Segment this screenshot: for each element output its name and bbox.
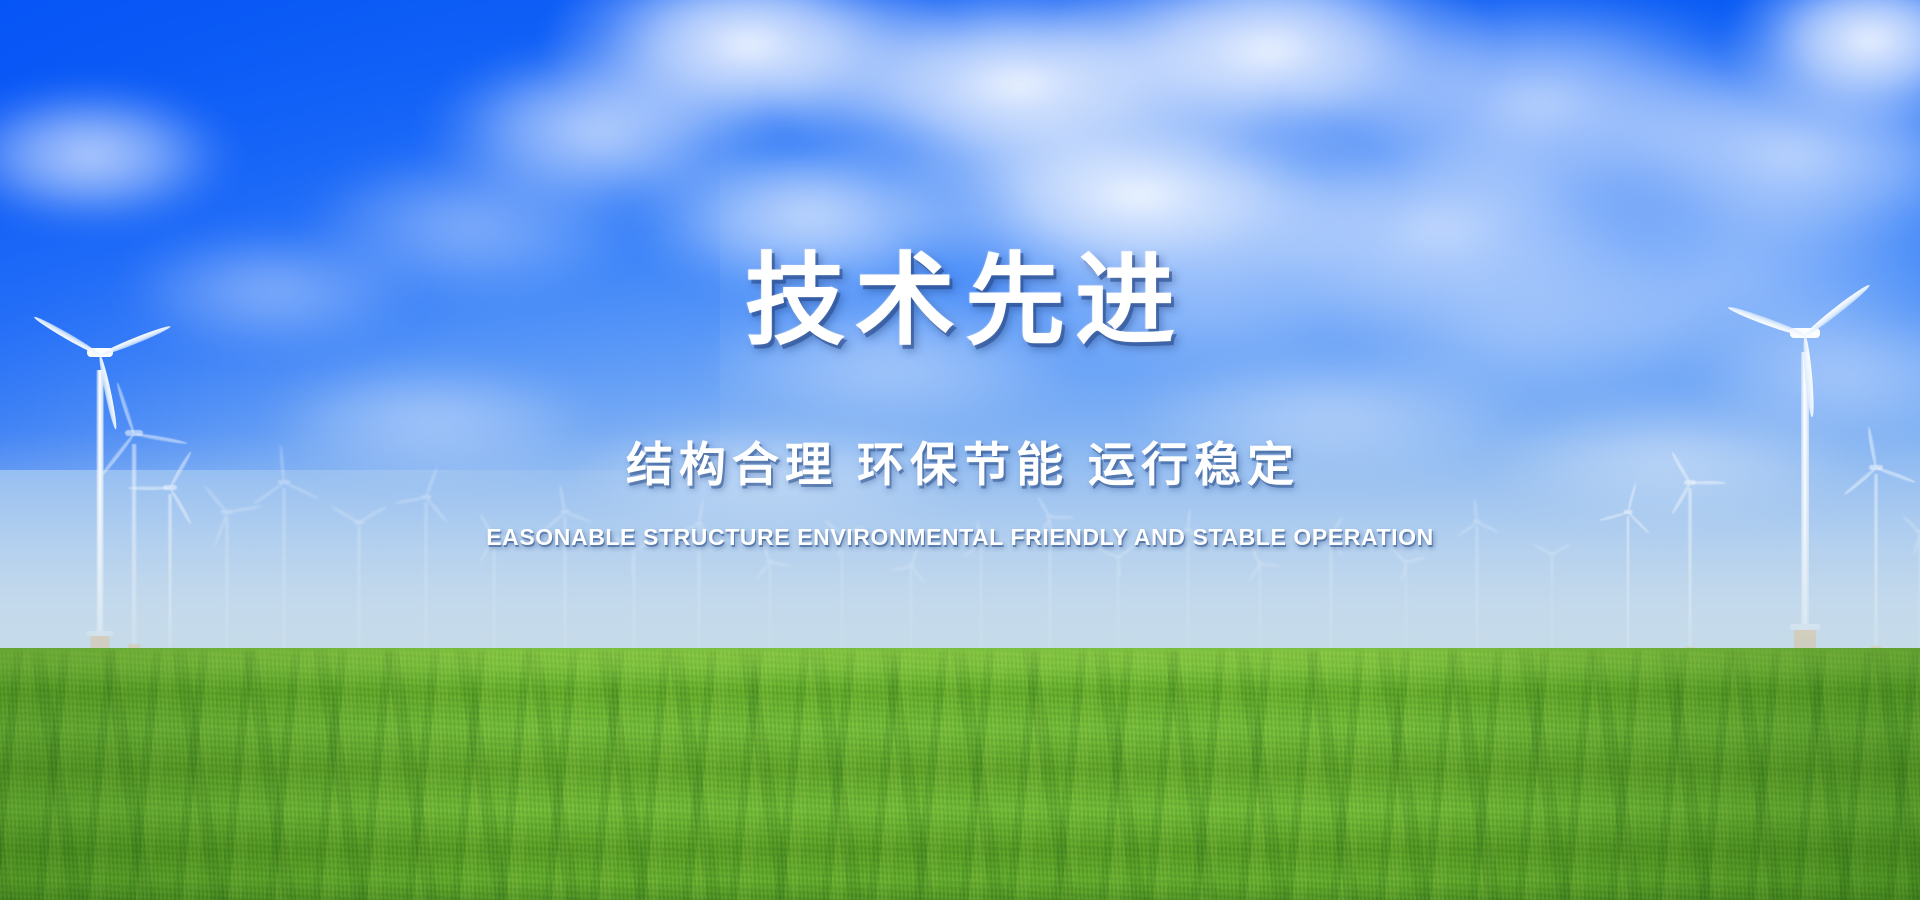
wind-turbine-icon bbox=[748, 560, 792, 660]
turbine-tower bbox=[1627, 516, 1630, 660]
turbine-blade bbox=[770, 561, 792, 568]
turbine-blade bbox=[1843, 466, 1878, 496]
turbine-tower bbox=[493, 540, 496, 660]
wind-turbine-icon bbox=[676, 522, 722, 660]
turbine-blade bbox=[494, 536, 522, 539]
turbine-blade bbox=[99, 324, 172, 358]
turbine-tower bbox=[1688, 488, 1692, 660]
turbine-blade bbox=[33, 314, 102, 357]
turbine-blade bbox=[1308, 535, 1331, 538]
turbine-blade bbox=[1117, 544, 1136, 559]
turbine-blade bbox=[613, 535, 635, 552]
turbine-blade bbox=[425, 497, 448, 523]
wind-turbine-icon bbox=[330, 520, 388, 660]
turbine-blade bbox=[1551, 555, 1554, 577]
turbine-tower bbox=[980, 544, 982, 660]
turbine-platform bbox=[1790, 624, 1821, 630]
turbine-blade bbox=[1050, 516, 1074, 519]
turbine-blade bbox=[1390, 547, 1407, 564]
turbine-tower bbox=[769, 564, 771, 660]
turbine-blade bbox=[394, 496, 426, 505]
turbine-blade bbox=[823, 519, 843, 536]
turbine-blade bbox=[252, 481, 285, 505]
turbine-tower bbox=[1187, 532, 1189, 660]
turbine-tower bbox=[283, 488, 286, 660]
turbine-blade bbox=[1187, 529, 1207, 544]
turbine-blade bbox=[1260, 563, 1280, 568]
turbine-blade bbox=[1098, 547, 1118, 559]
turbine-blade bbox=[1627, 483, 1638, 513]
turbine-blade bbox=[910, 546, 920, 567]
turbine-blade bbox=[128, 486, 170, 490]
turbine-blade bbox=[543, 511, 566, 531]
wind-turbine-icon bbox=[398, 495, 454, 660]
wind-turbine-icon bbox=[1098, 555, 1138, 660]
turbine-blade bbox=[1330, 516, 1344, 537]
wind-turbine-icon bbox=[1892, 530, 1920, 660]
turbine-blade bbox=[1476, 521, 1499, 534]
turbine-blade bbox=[559, 485, 567, 513]
wind-turbine-icon bbox=[1385, 560, 1427, 660]
turbine-blade bbox=[358, 505, 387, 524]
turbine-tower bbox=[1330, 538, 1333, 660]
turbine-blade bbox=[1599, 511, 1629, 522]
turbine-blade bbox=[1167, 529, 1188, 541]
turbine-blade bbox=[1532, 542, 1553, 556]
wind-turbine-icon bbox=[820, 532, 864, 660]
turbine-blade bbox=[358, 523, 361, 555]
hero-banner: 技术先进 结构合理 环保节能 运行稳定 EASONABLE STRUCTURE … bbox=[0, 0, 1920, 900]
turbine-blade bbox=[890, 565, 911, 572]
wind-turbine-icon bbox=[468, 535, 520, 660]
wind-turbine-icon bbox=[1660, 480, 1720, 660]
turbine-tower bbox=[1259, 565, 1261, 660]
turbine-tower bbox=[910, 567, 912, 660]
turbine-blade bbox=[1727, 304, 1806, 339]
wind-turbine-icon bbox=[610, 548, 658, 660]
turbine-tower bbox=[841, 536, 843, 660]
wind-turbine-icon bbox=[1240, 562, 1280, 660]
turbine-tower bbox=[1476, 525, 1479, 660]
turbine-blade bbox=[279, 445, 285, 483]
turbine-blade bbox=[1406, 556, 1427, 564]
grass-field-icon bbox=[0, 648, 1920, 900]
turbine-blade bbox=[1250, 546, 1261, 565]
turbine-tower bbox=[698, 527, 701, 660]
wind-turbine-icon bbox=[960, 540, 1002, 660]
turbine-blade bbox=[698, 523, 719, 541]
wind-turbine-icon bbox=[1600, 510, 1656, 660]
wind-turbine-icon bbox=[252, 480, 316, 660]
turbine-blade bbox=[134, 432, 188, 445]
turbine-blade bbox=[283, 481, 319, 500]
turbine-tower bbox=[1874, 474, 1878, 660]
turbine-blade bbox=[675, 523, 700, 534]
wind-farm-layer bbox=[0, 0, 1920, 660]
turbine-blade bbox=[479, 513, 496, 539]
turbine-blade bbox=[1627, 511, 1650, 534]
grass-shadow-right bbox=[1360, 648, 1920, 900]
turbine-blade bbox=[1551, 542, 1572, 556]
turbine-blade bbox=[425, 467, 439, 498]
turbine-blade bbox=[976, 521, 983, 543]
turbine-tower bbox=[1405, 563, 1407, 660]
turbine-tower bbox=[168, 494, 172, 660]
turbine-tower bbox=[226, 517, 229, 660]
wind-turbine-icon bbox=[890, 564, 932, 660]
turbine-blade bbox=[1690, 481, 1726, 485]
wind-turbine-icon bbox=[1030, 515, 1070, 660]
turbine-blade bbox=[980, 541, 1002, 551]
turbine-blade bbox=[841, 525, 864, 536]
turbine-blade bbox=[564, 511, 591, 523]
wind-turbine-icon bbox=[1530, 552, 1574, 660]
wind-turbine-icon bbox=[1168, 528, 1208, 660]
wind-turbine-icon bbox=[540, 510, 590, 660]
turbine-blade bbox=[1037, 496, 1052, 518]
turbine-blade bbox=[633, 539, 657, 552]
turbine-tower bbox=[425, 502, 428, 660]
turbine-tower bbox=[564, 516, 567, 660]
wind-turbine-icon bbox=[1455, 520, 1499, 660]
turbine-tower bbox=[1049, 520, 1052, 660]
turbine-blade bbox=[1473, 498, 1478, 522]
turbine-blade bbox=[910, 566, 926, 584]
turbine-blade bbox=[698, 500, 705, 525]
turbine-blade bbox=[1875, 466, 1916, 484]
wind-turbine-icon bbox=[1310, 534, 1352, 660]
turbine-blade bbox=[99, 433, 135, 478]
grass-shadow-left bbox=[0, 648, 520, 900]
turbine-blade bbox=[1803, 282, 1872, 338]
turbine-blade bbox=[331, 505, 360, 524]
turbine-blade bbox=[1670, 451, 1691, 484]
